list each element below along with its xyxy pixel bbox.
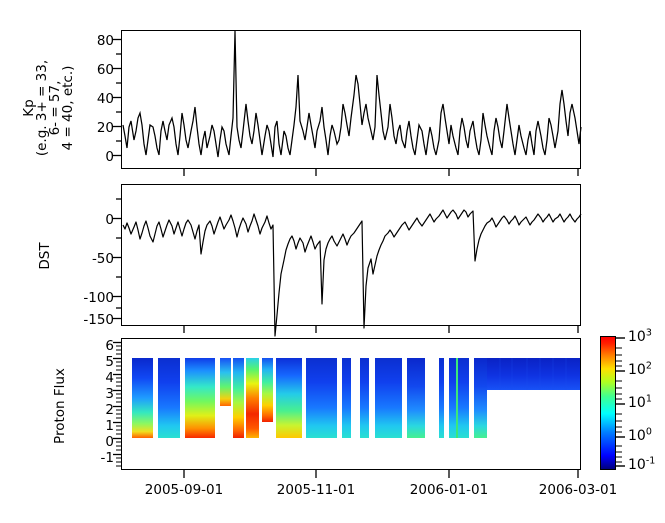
colorbar-tick-1e0-mantissa: 10 <box>628 428 646 444</box>
colorbar-tick-1e2-exponent: 2 <box>646 360 652 371</box>
colorbar-tick-1e2-mantissa: 10 <box>628 362 646 378</box>
xtick-2005-09-01: 2005-09-01 <box>124 482 244 498</box>
xtick-2006-03-01: 2006-03-01 <box>518 482 638 498</box>
proton-flux-heatmap <box>132 358 580 438</box>
colorbar-tick-1e0-exponent: 0 <box>646 426 652 437</box>
colorbar-tick-1e1-mantissa: 10 <box>628 395 646 411</box>
colorbar-tick-1e1: 101 <box>628 395 652 411</box>
xtick-2005-11-01: 2005-11-01 <box>256 482 376 498</box>
colorbar-tick-1e3-exponent: 3 <box>646 327 652 338</box>
proton-flux-xticks <box>184 470 578 478</box>
colorbar-tick-1em1-exponent: -1 <box>646 455 655 466</box>
colorbar-tick-1e3: 103 <box>628 329 652 345</box>
proton-flux-svg-layer <box>0 0 665 523</box>
colorbar-tick-1e1-exponent: 1 <box>646 393 652 404</box>
figure-root: Kp (e.g. 3+ = 33, 6- = 57, 4 = 40, etc.)… <box>0 0 665 523</box>
colorbar-tick-1em1-mantissa: 10 <box>628 457 646 473</box>
colorbar-tick-1e2: 102 <box>628 362 652 378</box>
colorbar-tick-1e3-mantissa: 10 <box>628 329 646 345</box>
colorbar-gradient <box>600 336 616 470</box>
colorbar-tick-1em1: 10-1 <box>628 457 655 473</box>
xtick-2006-01-01: 2006-01-01 <box>389 482 509 498</box>
colorbar-tick-1e0: 100 <box>628 428 652 444</box>
